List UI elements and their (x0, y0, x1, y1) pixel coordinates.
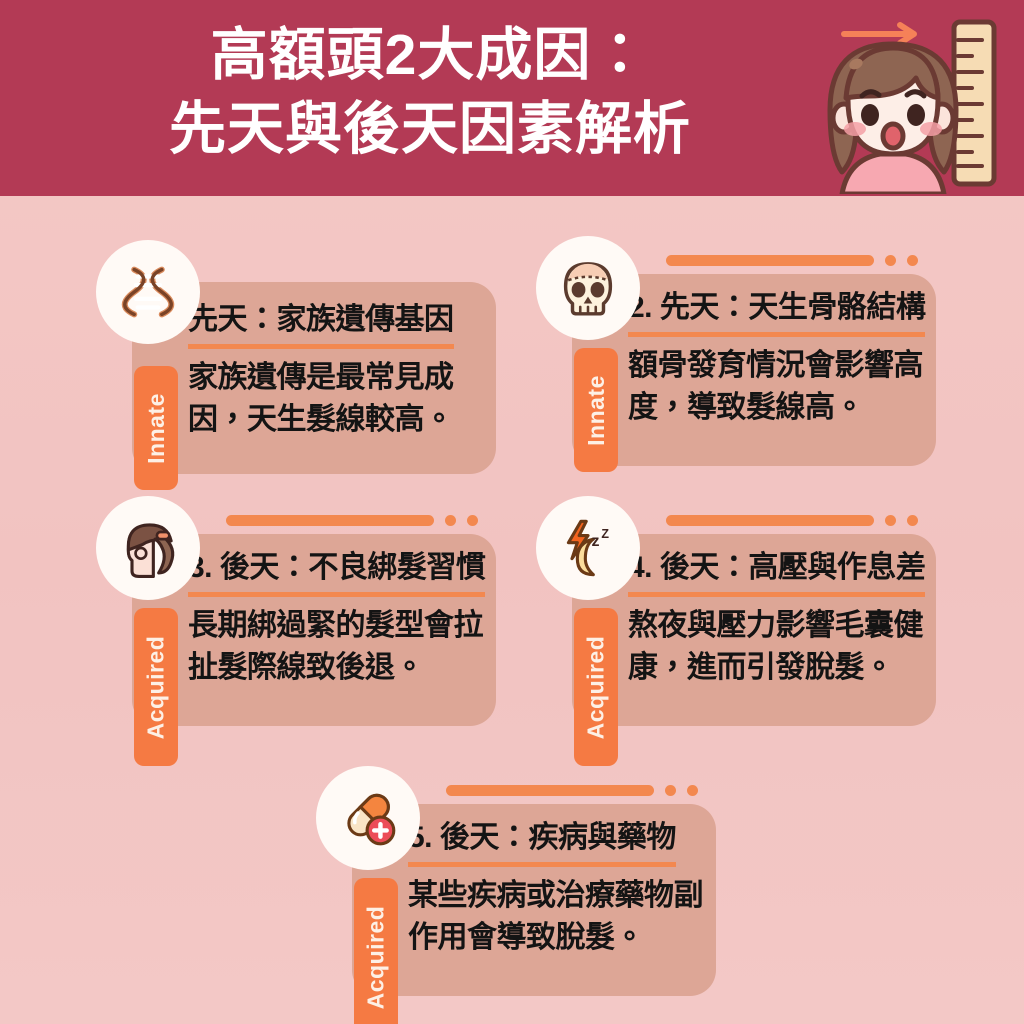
card-3[interactable]: Acquired 3. 後天：不良綁髮習慣 長期綁過緊的髮型會拉扯髮際線致後退。 (96, 496, 496, 732)
deco-dot (907, 255, 918, 266)
dna-helix-icon (96, 240, 200, 344)
card-title: 先天：家族遺傳基因 (188, 300, 454, 349)
card-title: 3. 後天：不良綁髮習慣 (188, 548, 485, 597)
lightning-moon-sleep-icon: z Z (536, 496, 640, 600)
svg-text:z: z (592, 533, 600, 550)
category-tag-acquired: Acquired (134, 608, 178, 766)
tag-label: Innate (143, 393, 170, 464)
card-description: 額骨發育情況會影響高度，導致髮線高。 (628, 345, 938, 429)
svg-text:Z: Z (601, 527, 609, 541)
deco-dot (885, 255, 896, 266)
card-text: 5. 後天：疾病與藥物 某些疾病或治療藥物副作用會導致脫髮。 (408, 818, 718, 959)
card-text: 4. 後天：高壓與作息差 熬夜與壓力影響毛囊健康，進而引發脫髮。 (628, 548, 938, 689)
pill-medical-cross-icon (316, 766, 420, 870)
page-title: 高額頭2大成因： 先天與後天因素解析 (60, 18, 800, 166)
deco-bar (666, 255, 874, 266)
header-banner: 高額頭2大成因： 先天與後天因素解析 (0, 0, 1024, 196)
card-5[interactable]: Acquired 5. 後天：疾病與藥物 某些疾病或治療藥物副作用會導致脫髮。 (316, 766, 716, 1002)
deco-dot (687, 785, 698, 796)
tag-label: Acquired (143, 635, 170, 739)
tag-label: Acquired (363, 905, 390, 1009)
card-title: 4. 後天：高壓與作息差 (628, 548, 925, 597)
deco-dot (665, 785, 676, 796)
deco-bar (226, 515, 434, 526)
card-2[interactable]: Innate 2. 先天：天生骨骼結構 額骨發育情況會影響高度，導致髮線高。 (536, 236, 936, 472)
card-description: 家族遺傳是最常見成因，天生髮線較高。 (188, 357, 498, 441)
decorative-rule (666, 254, 918, 266)
cards-grid: Innate 先天：家族遺傳基因 家族遺傳是最常見成因，天生髮線較高。 (0, 196, 1024, 1024)
deco-bar (666, 515, 874, 526)
infographic-poster: 高額頭2大成因： 先天與後天因素解析 (0, 0, 1024, 1024)
card-text: 3. 後天：不良綁髮習慣 長期綁過緊的髮型會拉扯髮際線致後退。 (188, 548, 498, 689)
deco-dot (445, 515, 456, 526)
tag-label: Acquired (583, 635, 610, 739)
card-title: 2. 先天：天生骨骼結構 (628, 288, 925, 337)
card-text: 2. 先天：天生骨骼結構 額骨發育情況會影響高度，導致髮線高。 (628, 288, 938, 429)
deco-bar (446, 785, 654, 796)
girl-avatar (830, 44, 956, 194)
card-text: 先天：家族遺傳基因 家族遺傳是最常見成因，天生髮線較高。 (188, 300, 498, 441)
card-description: 某些疾病或治療藥物副作用會導致脫髮。 (408, 875, 718, 959)
ruler-icon (954, 22, 994, 184)
category-tag-innate: Innate (574, 348, 618, 472)
skull-icon (536, 236, 640, 340)
card-4[interactable]: Acquired 4. 後天：高壓與作息差 熬夜與壓力影響毛囊健康，進而引發脫髮… (536, 496, 936, 732)
card-1[interactable]: Innate 先天：家族遺傳基因 家族遺傳是最常見成因，天生髮線較高。 (96, 236, 496, 472)
decorative-rule (446, 784, 698, 796)
deco-dot (885, 515, 896, 526)
ponytail-head-icon (96, 496, 200, 600)
card-title: 5. 後天：疾病與藥物 (408, 818, 676, 867)
card-description: 熬夜與壓力影響毛囊健康，進而引發脫髮。 (628, 605, 938, 689)
tag-label: Innate (583, 375, 610, 446)
decorative-rule (666, 514, 918, 526)
decorative-rule (226, 514, 478, 526)
category-tag-innate: Innate (134, 366, 178, 490)
deco-dot (467, 515, 478, 526)
deco-dot (907, 515, 918, 526)
title-line-2: 先天與後天因素解析 (60, 92, 800, 166)
category-tag-acquired: Acquired (574, 608, 618, 766)
arrow-icon (844, 25, 914, 43)
girl-with-ruler-illustration (806, 14, 1018, 194)
card-description: 長期綁過緊的髮型會拉扯髮際線致後退。 (188, 605, 498, 689)
category-tag-acquired: Acquired (354, 878, 398, 1024)
title-line-1: 高額頭2大成因： (60, 18, 800, 92)
